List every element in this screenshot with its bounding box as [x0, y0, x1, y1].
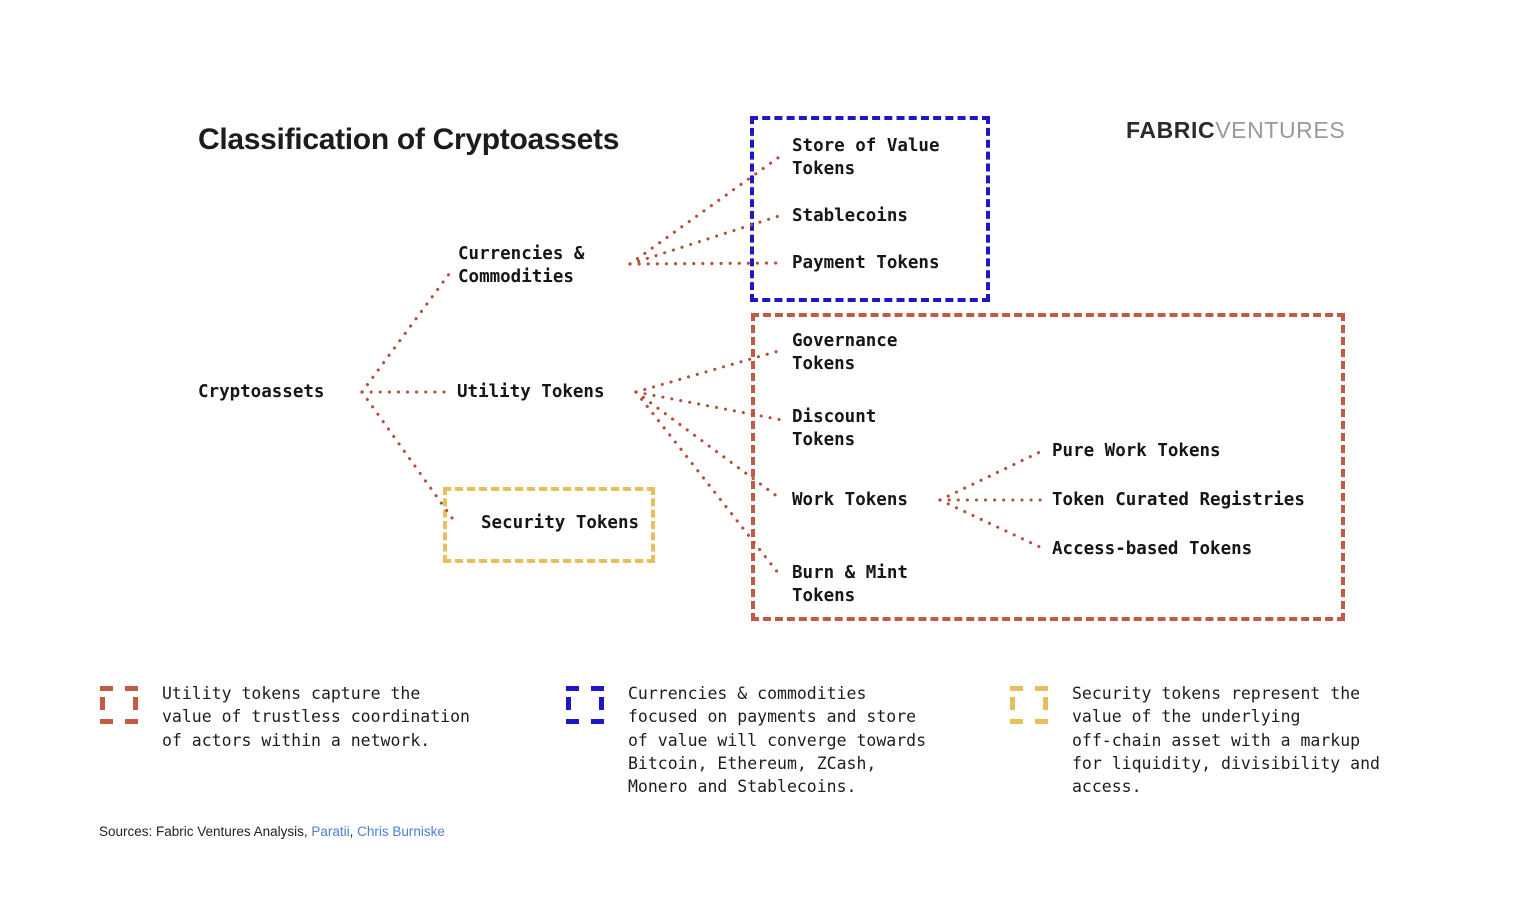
node-utility-tokens: Utility Tokens	[457, 381, 605, 404]
node-stablecoins: Stablecoins	[792, 205, 908, 228]
sources-separator: ,	[350, 824, 358, 839]
sources-line: Sources: Fabric Ventures Analysis, Parat…	[99, 824, 445, 839]
legend-text-utility: Utility tokens capture the value of trus…	[162, 682, 470, 752]
node-burn-and-mint-tokens: Burn & Mint Tokens	[792, 562, 908, 608]
legend-text-security: Security tokens represent the value of t…	[1072, 682, 1380, 798]
node-payment-tokens: Payment Tokens	[792, 252, 940, 275]
logo-primary-text: FABRIC	[1126, 117, 1215, 143]
dashed-bracket-icon-gold	[1010, 686, 1048, 724]
node-security-tokens: Security Tokens	[481, 512, 639, 535]
node-cryptoassets: Cryptoassets	[198, 381, 324, 404]
source-link-paratii[interactable]: Paratii	[311, 824, 349, 839]
diagram-canvas: Classification of Cryptoassets FABRICVEN…	[0, 0, 1528, 918]
node-access-based-tokens: Access-based Tokens	[1052, 538, 1252, 561]
page-title: Classification of Cryptoassets	[198, 123, 619, 157]
node-store-of-value-tokens: Store of Value Tokens	[792, 135, 940, 181]
node-work-tokens: Work Tokens	[792, 489, 908, 512]
node-governance-tokens: Governance Tokens	[792, 330, 897, 376]
source-link-chris-burniske[interactable]: Chris Burniske	[357, 824, 445, 839]
legend-text-currencies: Currencies & commodities focused on paym…	[628, 682, 926, 798]
node-pure-work-tokens: Pure Work Tokens	[1052, 440, 1221, 463]
dashed-bracket-icon-red	[100, 686, 138, 724]
logo-secondary-text: VENTURES	[1215, 117, 1345, 143]
dashed-bracket-icon-blue	[566, 686, 604, 724]
node-token-curated-registries: Token Curated Registries	[1052, 489, 1305, 512]
sources-prefix: Sources: Fabric Ventures Analysis,	[99, 824, 311, 839]
node-currencies-commodities: Currencies & Commodities	[458, 243, 584, 289]
fabric-ventures-logo: FABRICVENTURES	[1126, 117, 1345, 144]
node-discount-tokens: Discount Tokens	[792, 406, 876, 452]
